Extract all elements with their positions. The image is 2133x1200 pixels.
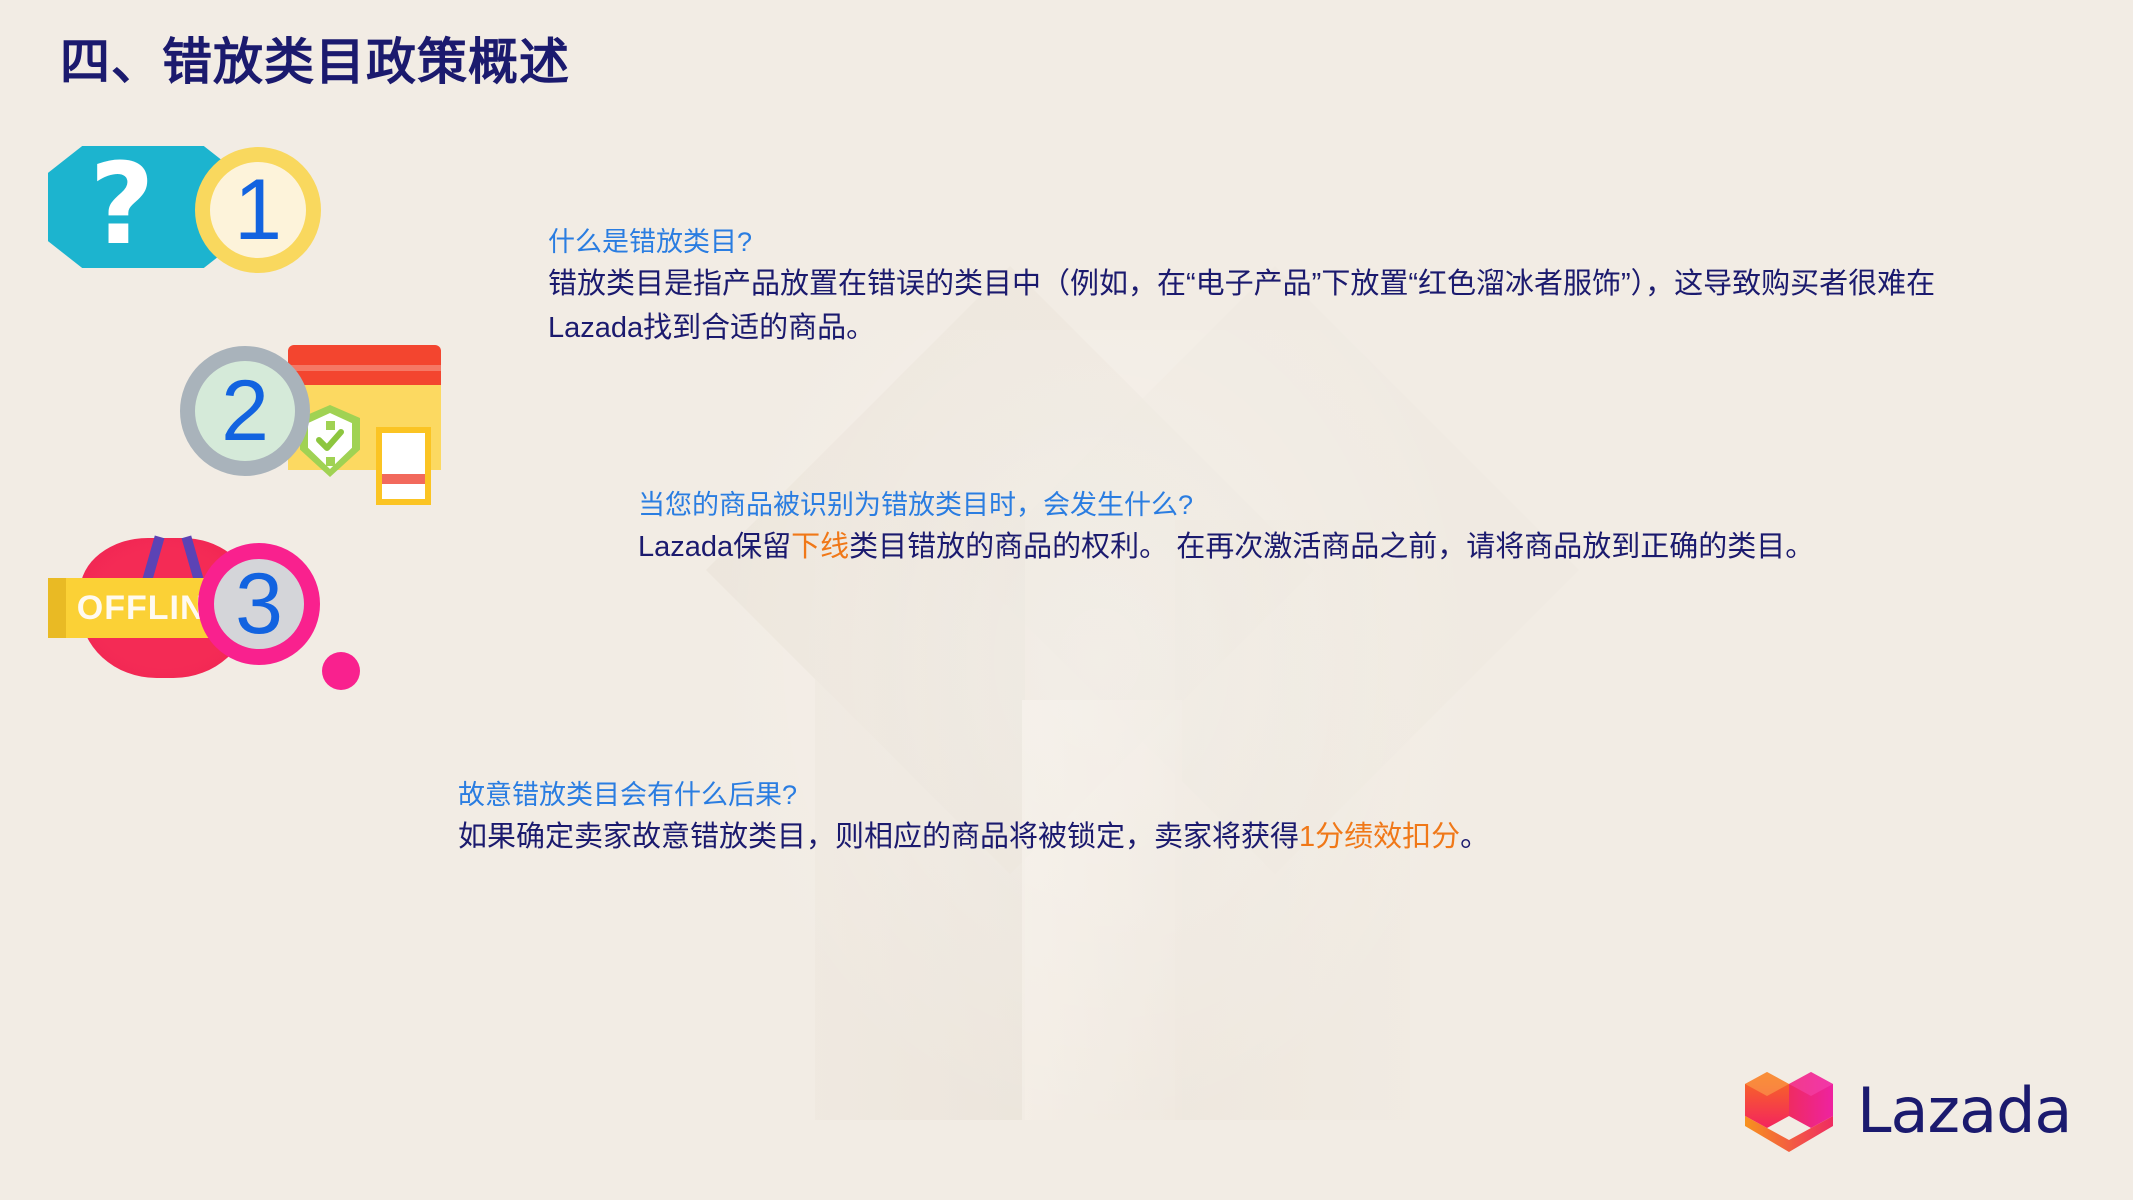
step-2-body-part-2: 类目错放的商品的权利。 在再次激活商品之前，请将商品放到正确的类目。 [849,531,1814,563]
step-1-text: 什么是错放类目? 错放类目是指产品放置在错误的类目中（例如，在“电子产品”下放置… [548,222,2028,350]
shop-icon [288,345,441,470]
step-3-heading: 故意错放类目会有什么后果? [458,775,1858,815]
step-2-body-highlight: 下线 [791,531,849,563]
page-title: 四、错放类目政策概述 [60,22,570,94]
lazada-logo: Lazada [1745,1070,2085,1160]
step-1-number-badge: 1 [195,147,321,273]
question-mark-glyph: ? [62,146,182,268]
step-2-text: 当您的商品被识别为错放类目时，会发生什么? Lazada保留下线类目错放的商品的… [638,485,1958,569]
step-3-body-highlight: 1分绩效扣分 [1299,821,1460,853]
lazada-mark-icon [1745,1070,1833,1154]
lazada-wordmark: Lazada [1857,1074,2071,1148]
step-3-text: 故意错放类目会有什么后果? 如果确定卖家故意错放类目，则相应的商品将被锁定，卖家… [458,775,1858,859]
background-watermark-mid [1022,700,1182,1120]
shop-awning-stripe [288,365,441,371]
step-3-number-badge: 3 [198,543,320,665]
checkmark-icon [316,429,344,451]
shop-door [376,427,431,505]
connector-dot-2 [322,652,360,690]
step-1-body-part-0: 错放类目是指产品放置在错误的类目中（例如，在“电子产品”下放置“红色溜冰者服饰”… [548,268,1935,344]
step-2-body: Lazada保留下线类目错放的商品的权利。 在再次激活商品之前，请将商品放到正确… [638,525,1958,569]
shop-door-bar [382,474,425,484]
background-watermark-glow [700,330,1500,1150]
step-2-heading: 当您的商品被识别为错放类目时，会发生什么? [638,485,1958,525]
step-1-body: 错放类目是指产品放置在错误的类目中（例如，在“电子产品”下放置“红色溜冰者服饰”… [548,262,2028,350]
step-3-body-part-2: 。 [1460,821,1489,853]
step-1-heading: 什么是错放类目? [548,222,2028,262]
step-2-number-badge: 2 [180,346,310,476]
shop-awning-scallop [288,373,441,386]
slide-root: 四、错放类目政策概述 ? 1 什么是错放类目? 错放类目是指产品放置在错误的类目… [0,0,2133,1200]
step-2-body-part-0: Lazada保留 [638,531,791,563]
step-3-body-part-0: 如果确定卖家故意错放类目，则相应的商品将被锁定，卖家将获得 [458,821,1299,853]
step-3-body: 如果确定卖家故意错放类目，则相应的商品将被锁定，卖家将获得1分绩效扣分。 [458,815,1858,859]
shield-dot-bottom [326,457,335,466]
